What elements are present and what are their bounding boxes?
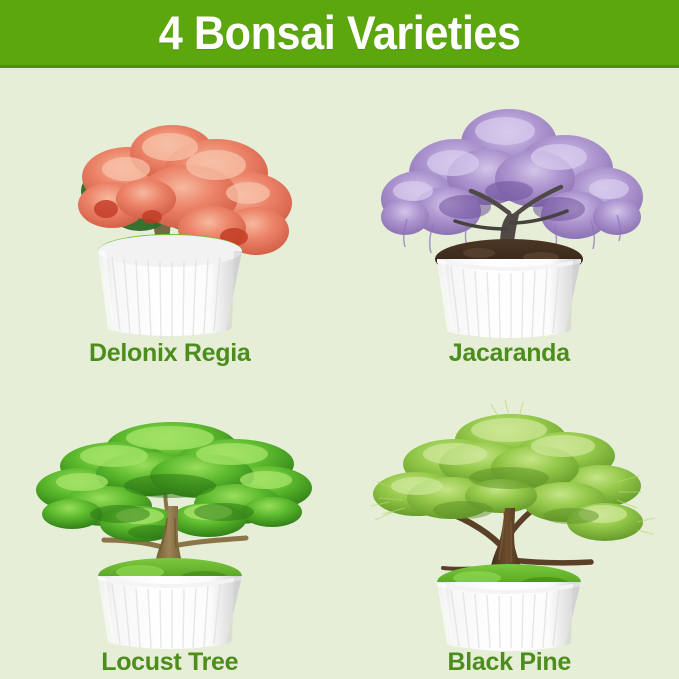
page-title: 4 Bonsai Varieties xyxy=(159,9,521,56)
bonsai-varieties-infographic: 4 Bonsai Varieties xyxy=(0,0,679,679)
variety-cell-locust-tree[interactable]: Locust Tree xyxy=(0,374,340,679)
bonsai-image-jacaranda xyxy=(359,81,659,339)
variety-cell-black-pine[interactable]: Black Pine xyxy=(340,374,679,679)
variety-label-delonix-regia: Delonix Regia xyxy=(89,341,250,366)
bonsai-image-black-pine xyxy=(359,390,659,648)
bonsai-image-locust-tree xyxy=(20,390,320,648)
variety-grid: Delonix Regia xyxy=(0,68,679,679)
pot-black-pine xyxy=(437,582,581,651)
variety-label-black-pine: Black Pine xyxy=(448,650,571,675)
pot-locust xyxy=(98,576,242,649)
variety-cell-delonix-regia[interactable]: Delonix Regia xyxy=(0,68,340,374)
variety-label-locust-tree: Locust Tree xyxy=(101,650,238,675)
variety-cell-jacaranda[interactable]: Jacaranda xyxy=(340,68,679,374)
pot-delonix xyxy=(98,235,242,338)
pot-jacaranda xyxy=(437,259,581,339)
bonsai-image-delonix-regia xyxy=(20,81,320,339)
variety-label-jacaranda: Jacaranda xyxy=(449,341,570,366)
header-banner: 4 Bonsai Varieties xyxy=(0,0,679,68)
